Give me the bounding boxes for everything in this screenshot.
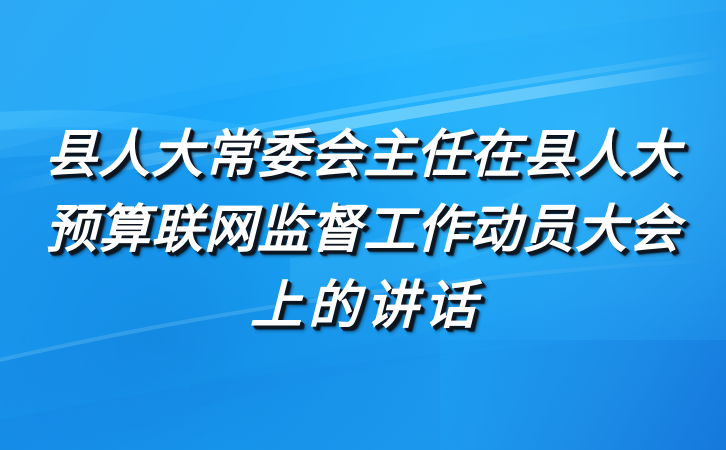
title-line-3: 上的讲话: [0, 268, 726, 344]
title-line-2: 预算联网监督工作动员大会: [0, 192, 726, 268]
title-line-1: 县人大常委会主任在县人大: [0, 118, 726, 192]
title-banner: 县人大常委会主任在县人大 预算联网监督工作动员大会 上的讲话: [0, 0, 726, 450]
banner-title: 县人大常委会主任在县人大 预算联网监督工作动员大会 上的讲话: [0, 118, 726, 344]
